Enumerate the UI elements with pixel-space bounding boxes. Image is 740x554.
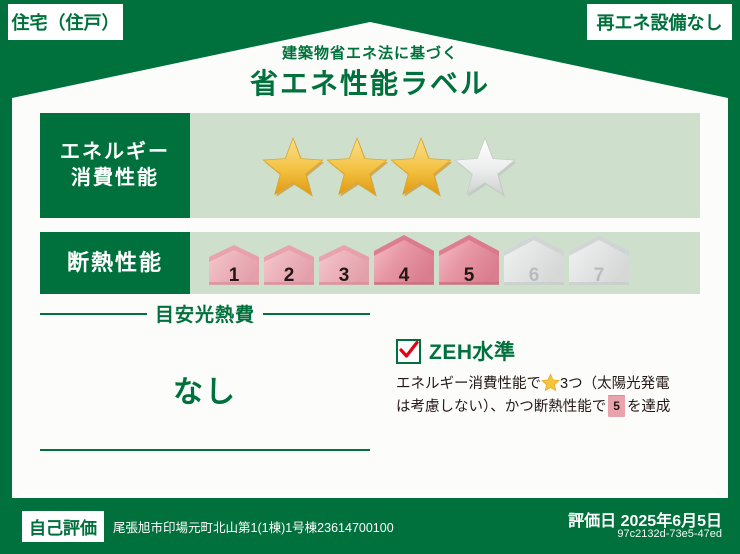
house-icon-active <box>318 244 370 286</box>
heading-rule-right <box>263 313 370 315</box>
insulation-performance-label: 断熱性能 <box>40 232 190 294</box>
tag-dwelling-type-label: 住宅（住戸） <box>12 9 120 35</box>
energy-performance-label-line2: 消費性能 <box>71 166 159 192</box>
tag-renewable-equipment-label: 再エネ設備なし <box>597 9 723 35</box>
house-rating-step: 6 <box>503 234 565 291</box>
star-filled-icon <box>262 135 324 197</box>
energy-performance-label-line1: エネルギー <box>60 140 170 166</box>
zeh-desc-stars: 3つ（太陽光発電 <box>560 376 670 392</box>
self-evaluation-badge: 自己評価 <box>22 511 104 542</box>
house-icon-active <box>438 234 500 286</box>
header-subtitle: 建築物省エネ法に基づく <box>0 42 740 63</box>
house-rating-step: 3 <box>318 244 370 291</box>
utility-cost-value: なし <box>40 367 370 411</box>
energy-performance-row: エネルギー 消費性能 <box>40 113 700 218</box>
heading-rule-left <box>40 313 147 315</box>
star-filled-icon <box>390 135 452 197</box>
star-icon <box>541 373 560 392</box>
house-rating-step: 4 <box>373 234 435 291</box>
house-icon-active <box>208 244 260 286</box>
tag-dwelling-type: 住宅（住戸） <box>8 4 123 40</box>
insulation-performance-row: 断熱性能 1234567 <box>40 232 700 294</box>
tag-renewable-equipment: 再エネ設備なし <box>587 4 732 40</box>
utility-cost-heading-text: 目安光熱費 <box>155 300 255 327</box>
insulation-grade-badge: 5 <box>608 395 625 417</box>
house-rating-step: 7 <box>568 234 630 291</box>
zeh-desc-part1: エネルギー消費性能で <box>396 376 541 392</box>
house-icon-inactive <box>568 234 630 286</box>
zeh-desc-part2: は考慮しない）、かつ断熱性能で <box>396 399 606 415</box>
utility-cost-bottom-rule <box>40 449 370 451</box>
zeh-desc-part3: を達成 <box>627 399 671 415</box>
house-icon-inactive <box>503 234 565 286</box>
house-rating-step: 5 <box>438 234 500 291</box>
zeh-section: ZEH水準 エネルギー消費性能で3つ（太陽光発電 は考慮しない）、かつ断熱性能で… <box>396 336 708 419</box>
page-title: 省エネ性能ラベル <box>0 62 740 102</box>
house-icon-active <box>373 234 435 286</box>
star-rating <box>262 135 516 197</box>
zeh-checkbox[interactable] <box>396 339 421 364</box>
zeh-description: エネルギー消費性能で3つ（太陽光発電 は考慮しない）、かつ断熱性能で5を達成 <box>396 373 708 419</box>
footer-divider <box>22 494 718 496</box>
insulation-performance-label-text: 断熱性能 <box>67 249 163 277</box>
house-icon-active <box>263 244 315 286</box>
insulation-performance-value: 1234567 <box>190 232 700 294</box>
evaluation-id: 97c2132d-73e5-47ed <box>617 528 722 540</box>
star-filled-icon <box>326 135 388 197</box>
zeh-heading: ZEH水準 <box>396 336 708 366</box>
utility-cost-heading: 目安光熱費 <box>40 300 370 327</box>
house-rating-scale: 1234567 <box>208 235 630 291</box>
energy-performance-value <box>190 113 700 218</box>
star-empty-icon <box>454 135 516 197</box>
energy-performance-label: エネルギー 消費性能 <box>40 113 190 218</box>
footer: 自己評価 尾張旭市印場元町北山第1(1棟)1号棟23614700100 評価日 … <box>0 498 740 554</box>
property-address: 尾張旭市印場元町北山第1(1棟)1号棟23614700100 <box>113 517 394 536</box>
energy-label-root: 住宅（住戸） 再エネ設備なし 建築物省エネ法に基づく 省エネ性能ラベル エネルギ… <box>0 0 740 554</box>
house-rating-step: 2 <box>263 244 315 291</box>
evaluation-date-label: 評価日 <box>568 513 616 530</box>
check-icon <box>397 338 421 362</box>
utility-cost-section: 目安光熱費 なし <box>40 300 370 451</box>
house-rating-step: 1 <box>208 244 260 291</box>
zeh-title: ZEH水準 <box>429 336 516 366</box>
